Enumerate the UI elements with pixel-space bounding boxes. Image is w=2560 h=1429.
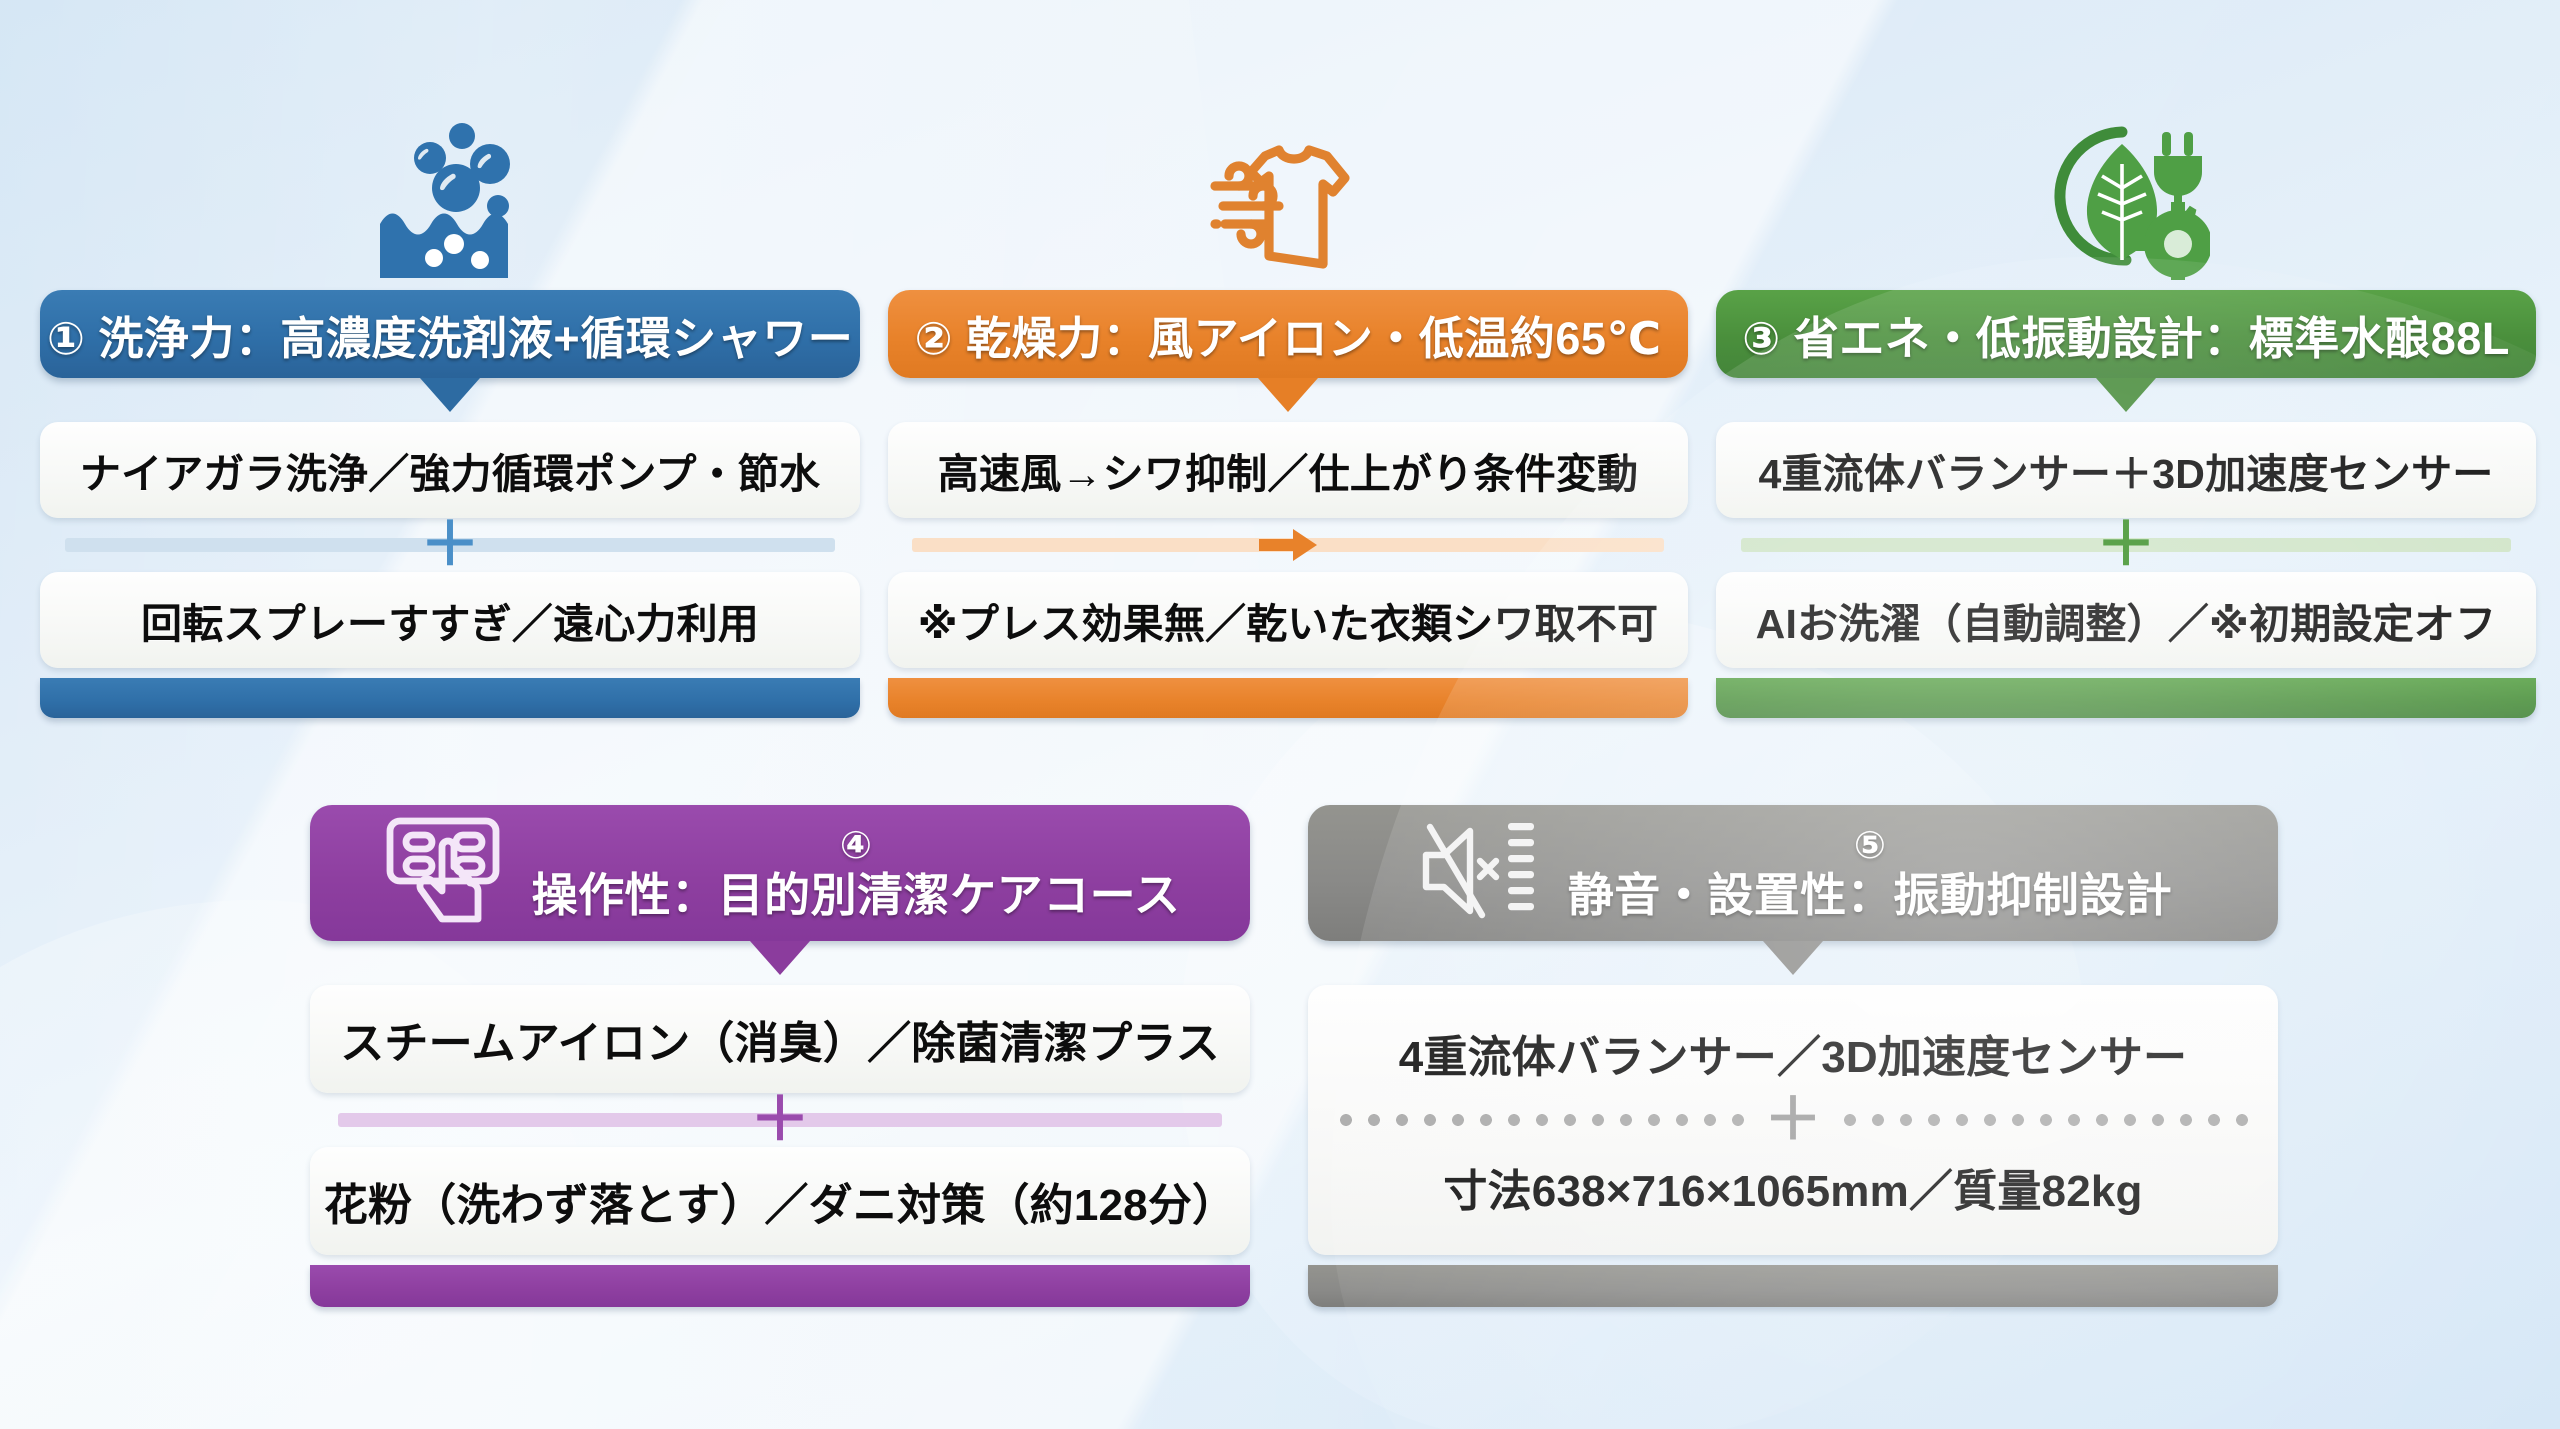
mute-speaker-vibration-icon	[1414, 811, 1542, 936]
card-4-line-2: 花粉（洗わず落とす）／ダニ対策（約128分）	[324, 1169, 1237, 1233]
plus-icon: ＋	[2096, 515, 2156, 575]
card-4-panel-2[interactable]: 花粉（洗わず落とす）／ダニ対策（約128分）	[310, 1147, 1250, 1255]
card-5-line-2: 寸法638×716×1065mm／質量82kg	[1443, 1155, 2142, 1219]
dotted-line-right	[1836, 1114, 2254, 1126]
card-3-title: ③ 省エネ・低振動設計：標準水酿88L	[1742, 302, 2510, 367]
card-5-line-1: 4重流体バランサー／3D加速度センサー	[1399, 1021, 2188, 1085]
water-bubbles-icon	[374, 120, 526, 280]
card-2-line-1: 高速風→シワ抑制／仕上がり条件変動	[938, 440, 1638, 500]
card-4-body: スチームアイロン（消臭）／除菌清潔プラス ＋ 花粉（洗わず落とす）／ダニ対策（約…	[310, 985, 1250, 1307]
arrow-right-icon	[1257, 526, 1319, 564]
card-4-tail	[750, 941, 810, 975]
card-1-line-2: 回転スプレーすすぎ／遠心力利用	[141, 590, 759, 650]
card-4-connector: ＋	[310, 1093, 1250, 1147]
card-4-title-block: ④ 操作性：目的別清潔ケアコース	[532, 827, 1181, 919]
card-2-body: 高速風→シワ抑制／仕上がり条件変動 ※プレス効果無／乾いた衣類シワ取不可	[888, 422, 1688, 718]
feature-card-4[interactable]: ④ 操作性：目的別清潔ケアコース スチームアイロン（消臭）／除菌清潔プラス ＋ …	[310, 805, 1250, 1307]
card-5-body: 4重流体バランサー／3D加速度センサー ＋ 寸法638×716×1065mm／質…	[1308, 985, 2278, 1307]
card-5-connector: ＋	[1332, 1091, 2254, 1149]
card-1-tail	[420, 378, 480, 412]
card-3-body: 4重流体バランサー＋3D加速度センサー ＋ AIお洗濯（自動調整）／※初期設定オ…	[1716, 422, 2536, 718]
tshirt-wind-icon	[1203, 130, 1373, 280]
card-2-header[interactable]: ② 乾燥力：風アイロン・低温約65℃	[888, 290, 1688, 378]
card-1-panel-2[interactable]: 回転スプレーすすぎ／遠心力利用	[40, 572, 860, 668]
feature-card-2[interactable]: ② 乾燥力：風アイロン・低温約65℃ 高速風→シワ抑制／仕上がり条件変動 ※プレ…	[888, 290, 1688, 718]
card-1-header[interactable]: ① 洗浄力：高濃度洗剤液+循環シャワー	[40, 290, 860, 378]
card-1-body: ナイアガラ洗浄／強力循環ポンプ・節水 ＋ 回転スプレーすすぎ／遠心力利用	[40, 422, 860, 718]
card-4-number: ④	[840, 827, 872, 867]
card-1-title: ① 洗浄力：高濃度洗剤液+循環シャワー	[47, 302, 853, 367]
card-1-line-1: ナイアガラ洗浄／強力循環ポンプ・節水	[80, 440, 820, 500]
card-1-footer-bar	[40, 678, 860, 718]
card-3-tail	[2096, 378, 2156, 412]
plus-icon: ＋	[750, 1090, 810, 1150]
card-2-title: ② 乾燥力：風アイロン・低温約65℃	[915, 302, 1662, 367]
card-2-line-2: ※プレス効果無／乾いた衣類シワ取不可	[918, 590, 1658, 650]
control-panel-hand-icon	[380, 811, 506, 936]
card-1-panel-1[interactable]: ナイアガラ洗浄／強力循環ポンプ・節水	[40, 422, 860, 518]
card-5-number: ⑤	[1854, 827, 1886, 867]
card-4-header[interactable]: ④ 操作性：目的別清潔ケアコース	[310, 805, 1250, 941]
card-5-footer-bar	[1308, 1265, 2278, 1307]
infographic-canvas: ① 洗浄力：高濃度洗剤液+循環シャワー ナイアガラ洗浄／強力循環ポンプ・節水 ＋…	[0, 0, 2560, 1429]
card-4-title: 操作性：目的別清潔ケアコース	[532, 871, 1181, 919]
card-5-panel[interactable]: 4重流体バランサー／3D加速度センサー ＋ 寸法638×716×1065mm／質…	[1308, 985, 2278, 1255]
card-3-connector: ＋	[1716, 518, 2536, 572]
card-1-connector: ＋	[40, 518, 860, 572]
card-2-connector	[888, 518, 1688, 572]
dotted-line-left	[1332, 1114, 1750, 1126]
card-5-tail	[1763, 941, 1823, 975]
card-3-line-1: 4重流体バランサー＋3D加速度センサー	[1758, 440, 2493, 500]
card-3-line-2: AIお洗濯（自動調整）／※初期設定オフ	[1756, 590, 2497, 650]
card-5-title: 静音・設置性：振動抑制設計	[1568, 871, 2173, 919]
card-2-tail	[1258, 378, 1318, 412]
feature-card-1[interactable]: ① 洗浄力：高濃度洗剤液+循環シャワー ナイアガラ洗浄／強力循環ポンプ・節水 ＋…	[40, 290, 860, 718]
plus-icon: ＋	[1764, 1091, 1822, 1149]
card-2-panel-2[interactable]: ※プレス効果無／乾いた衣類シワ取不可	[888, 572, 1688, 668]
feature-card-5[interactable]: ⑤ 静音・設置性：振動抑制設計 4重流体バランサー／3D加速度センサー ＋ 寸法…	[1308, 805, 2278, 1307]
card-5-title-block: ⑤ 静音・設置性：振動抑制設計	[1568, 827, 2173, 919]
card-4-panel-1[interactable]: スチームアイロン（消臭）／除菌清潔プラス	[310, 985, 1250, 1093]
card-3-footer-bar	[1716, 678, 2536, 718]
plus-icon: ＋	[420, 515, 480, 575]
card-4-footer-bar	[310, 1265, 1250, 1307]
card-3-header[interactable]: ③ 省エネ・低振動設計：標準水酿88L	[1716, 290, 2536, 378]
card-5-header[interactable]: ⑤ 静音・設置性：振動抑制設計	[1308, 805, 2278, 941]
card-2-panel-1[interactable]: 高速風→シワ抑制／仕上がり条件変動	[888, 422, 1688, 518]
feature-card-3[interactable]: ③ 省エネ・低振動設計：標準水酿88L 4重流体バランサー＋3D加速度センサー …	[1716, 290, 2536, 718]
card-2-footer-bar	[888, 678, 1688, 718]
eco-leaf-plug-gear-icon	[2042, 120, 2210, 280]
card-4-line-1: スチームアイロン（消臭）／除菌清潔プラス	[340, 1007, 1220, 1071]
card-3-panel-2[interactable]: AIお洗濯（自動調整）／※初期設定オフ	[1716, 572, 2536, 668]
card-3-panel-1[interactable]: 4重流体バランサー＋3D加速度センサー	[1716, 422, 2536, 518]
